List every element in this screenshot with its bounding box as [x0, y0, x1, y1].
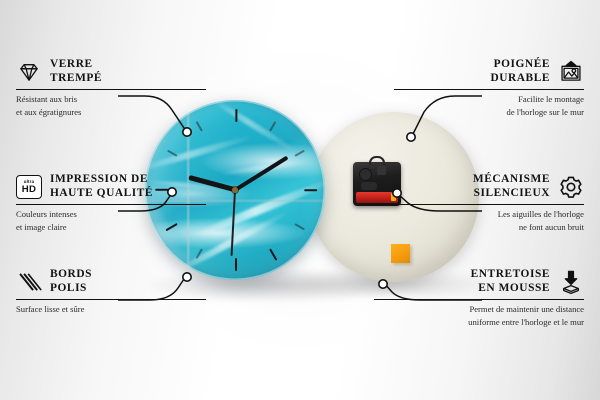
feature-title-line2: EN MOUSSE	[471, 282, 550, 296]
feature-title-line1: VERRE	[50, 58, 102, 72]
feature-header: ultra HD IMPRESSION DE HAUTE QUALITÉ	[16, 173, 206, 201]
foam-spacer	[391, 244, 410, 263]
feature-header: VERRE TREMPÉ	[16, 58, 206, 86]
feature-header: BORDS POLIS	[16, 268, 206, 296]
feature-title-line1: ENTRETOISE	[471, 268, 550, 282]
desc-line1: Surface lisse et sûre	[16, 303, 206, 315]
desc-line1: Les aiguilles de l'horloge	[394, 208, 584, 220]
desc-line1: Facilite le montage	[394, 93, 584, 105]
feature-divider	[16, 89, 206, 91]
feature-title-line1: POIGNÉE	[490, 58, 550, 72]
feature-title-line2: SILENCIEUX	[473, 187, 550, 201]
gear-icon	[558, 174, 584, 200]
movement-slot	[361, 182, 377, 190]
hanger-hook-icon	[369, 156, 385, 165]
feature-divider	[16, 204, 206, 206]
infographic-stage: VERRE TREMPÉ Résistant aux bris et aux é…	[0, 0, 600, 400]
desc-line1: Permet de maintenir une distance	[374, 303, 584, 315]
feature-poignee-durable: POIGNÉE DURABLE Facilite le montage de l…	[394, 58, 584, 118]
desc-line2: et image claire	[16, 221, 206, 233]
feature-title: ENTRETOISE EN MOUSSE	[471, 268, 550, 296]
desc-line2: de l'horloge sur le mur	[394, 106, 584, 118]
ultra-hd-icon: ultra HD	[16, 175, 42, 199]
feature-title: VERRE TREMPÉ	[50, 58, 102, 86]
feature-description: Couleurs intenses et image claire	[16, 208, 206, 232]
desc-line2: uniforme entre l'horloge et le mur	[374, 316, 584, 328]
feature-title: POIGNÉE DURABLE	[490, 58, 550, 86]
feature-mecanisme-silencieux: MÉCANISME SILENCIEUX Les aiguilles de l'…	[394, 173, 584, 233]
feature-divider	[374, 299, 584, 301]
desc-line1: Résistant aux bris	[16, 93, 206, 105]
feature-impression-haute-qualite: ultra HD IMPRESSION DE HAUTE QUALITÉ Cou…	[16, 173, 206, 233]
feature-title-line1: BORDS	[50, 268, 92, 282]
feature-title-line2: DURABLE	[490, 72, 550, 86]
movement-switch	[377, 166, 386, 175]
movement-dial	[359, 168, 372, 181]
diamond-icon	[16, 59, 42, 85]
feature-title: IMPRESSION DE HAUTE QUALITÉ	[50, 173, 153, 201]
aa-battery	[356, 192, 398, 203]
feature-header: POIGNÉE DURABLE	[394, 58, 584, 86]
feature-divider	[394, 204, 584, 206]
feature-title: BORDS POLIS	[50, 268, 92, 296]
picture-frame-hanger-icon	[558, 59, 584, 85]
feature-header: ENTRETOISE EN MOUSSE	[374, 268, 584, 296]
feature-description: Facilite le montage de l'horloge sur le …	[394, 93, 584, 117]
feature-bords-polis: BORDS POLIS Surface lisse et sûre	[16, 268, 206, 316]
desc-line2: et aux égratignures	[16, 106, 206, 118]
feature-divider	[394, 89, 584, 91]
feature-description: Les aiguilles de l'horloge ne font aucun…	[394, 208, 584, 232]
press-pad-icon	[558, 269, 584, 295]
desc-line2: ne font aucun bruit	[394, 221, 584, 233]
feature-description: Résistant aux bris et aux égratignures	[16, 93, 206, 117]
feature-entretoise-en-mousse: ENTRETOISE EN MOUSSE Permet de maintenir…	[374, 268, 584, 328]
feature-title-line2: POLIS	[50, 282, 92, 296]
feature-divider	[16, 299, 206, 301]
feature-title-line1: MÉCANISME	[473, 173, 550, 187]
feature-description: Surface lisse et sûre	[16, 303, 206, 315]
feature-description: Permet de maintenir une distance uniform…	[374, 303, 584, 327]
feature-header: MÉCANISME SILENCIEUX	[394, 173, 584, 201]
feature-title-line2: TREMPÉ	[50, 72, 102, 86]
ultra-hd-main-label: HD	[22, 185, 36, 195]
feature-title-line1: IMPRESSION DE	[50, 173, 153, 187]
feature-title: MÉCANISME SILENCIEUX	[473, 173, 550, 201]
polished-edges-icon	[16, 269, 42, 295]
feature-title-line2: HAUTE QUALITÉ	[50, 187, 153, 201]
feature-verre-trempe: VERRE TREMPÉ Résistant aux bris et aux é…	[16, 58, 206, 118]
desc-line1: Couleurs intenses	[16, 208, 206, 220]
